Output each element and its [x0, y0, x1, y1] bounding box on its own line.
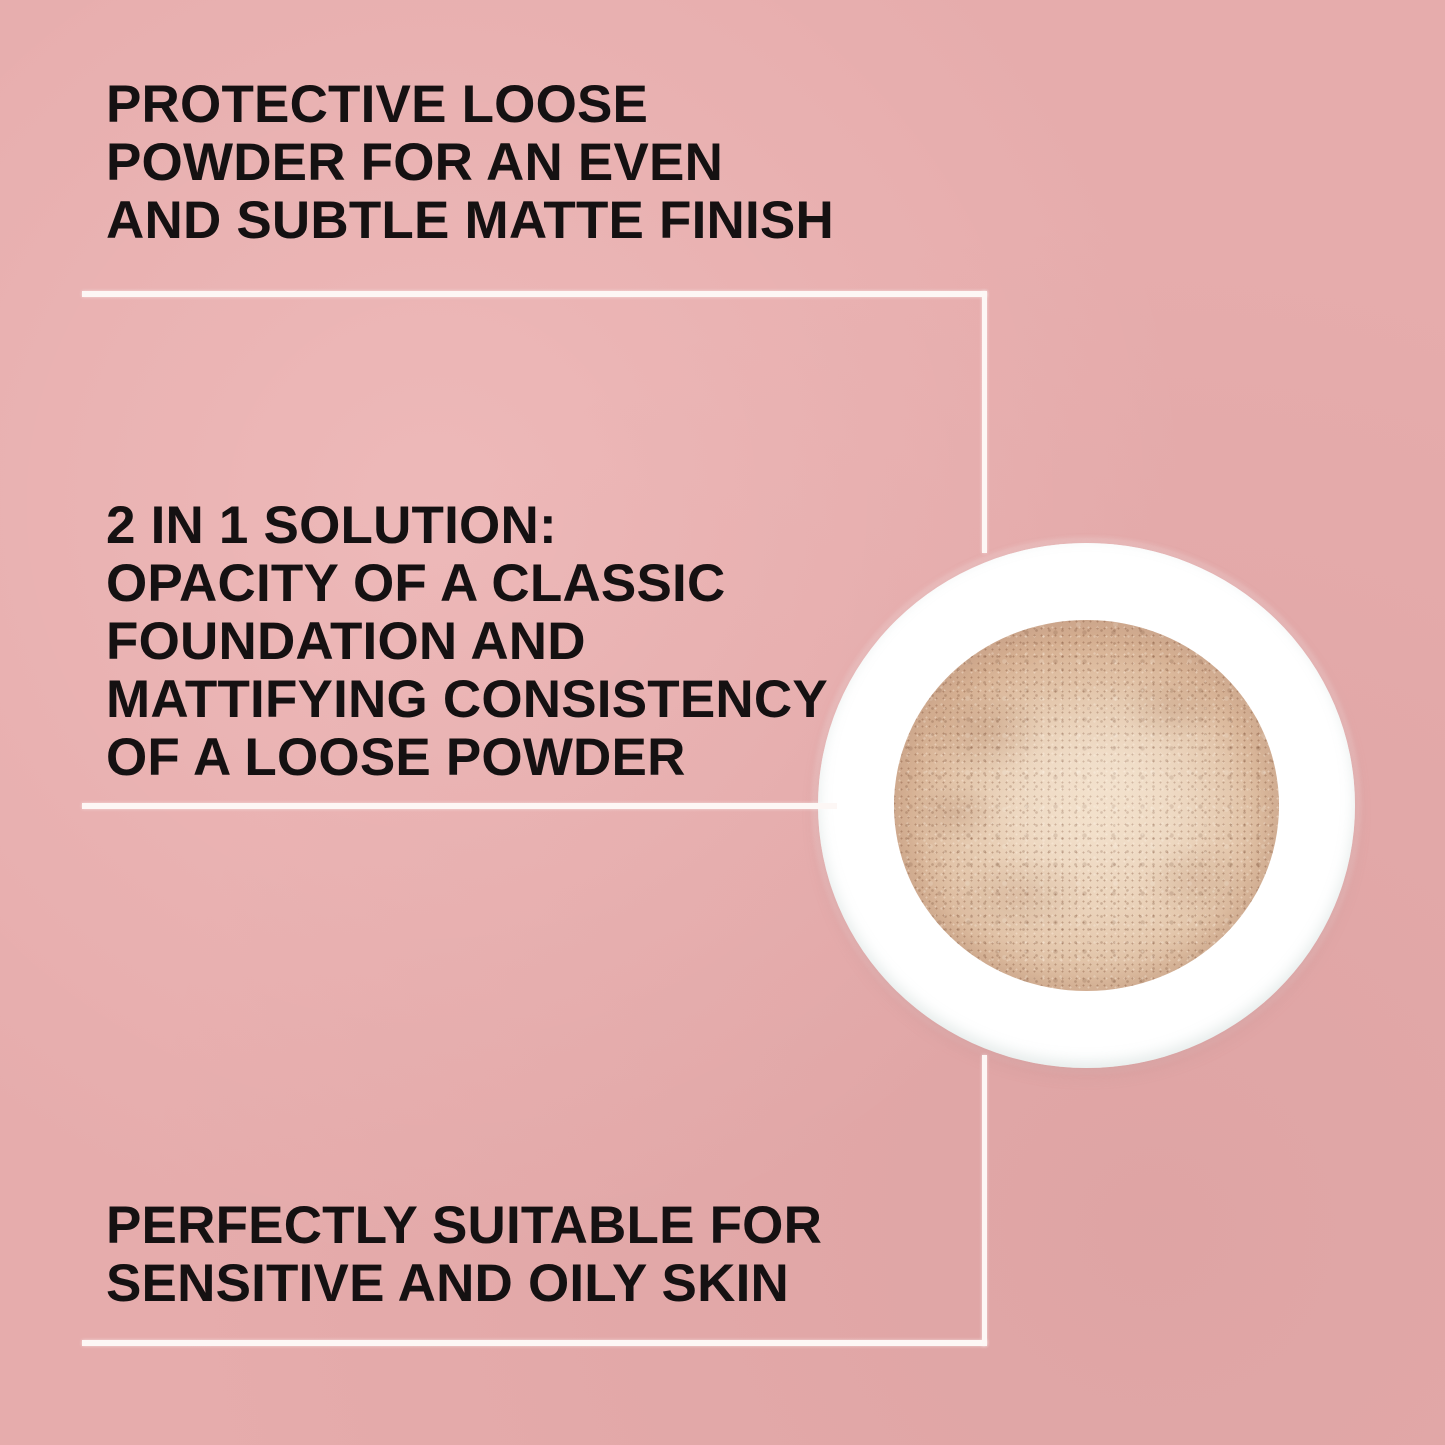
divider-line-bottom	[82, 1340, 987, 1346]
powder-grain-fine	[894, 620, 1279, 992]
divider-line-vertical-upper	[982, 291, 987, 553]
jar-outer-rim	[818, 543, 1355, 1068]
feature-text-2-in-1: 2 in 1 solution: opacity of a classic fo…	[106, 497, 828, 787]
divider-line-vertical-lower	[982, 1055, 987, 1346]
jar-inner-rim	[850, 576, 1323, 1036]
powder-surface	[894, 620, 1279, 992]
feature-text-skin-type: Perfectly suitable for sensitive and oil…	[106, 1197, 822, 1313]
loose-powder-jar-image	[818, 543, 1355, 1068]
divider-line-middle	[82, 803, 837, 809]
product-feature-panel: Protective loose powder for an even and …	[0, 0, 1445, 1445]
divider-line-top	[82, 291, 987, 297]
feature-text-matte-finish: Protective loose powder for an even and …	[106, 76, 834, 250]
